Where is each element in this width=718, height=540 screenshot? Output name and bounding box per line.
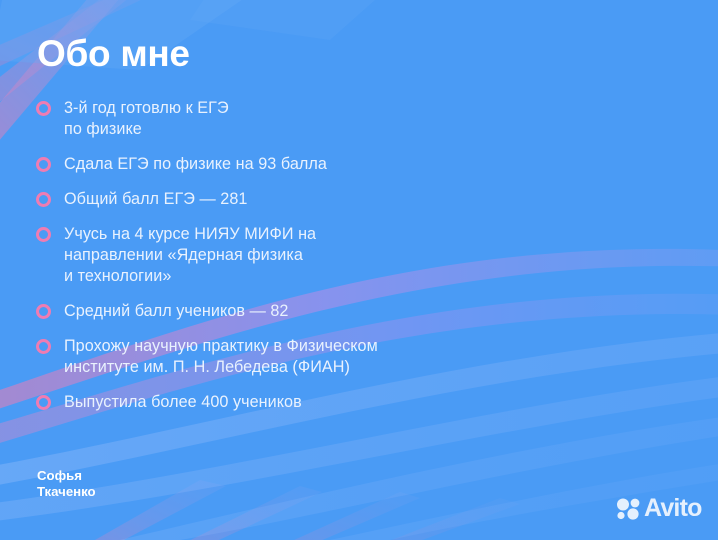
list-item-text: Сдала ЕГЭ по физике на 93 балла (64, 154, 566, 175)
list-item-text: Выпустила более 400 учеников (64, 392, 566, 413)
list-item-text: Средний балл учеников — 82 (64, 301, 566, 322)
list-item-text: Общий балл ЕГЭ — 281 (64, 189, 566, 210)
avito-dots-icon (616, 497, 641, 521)
list-item: Выпустила более 400 учеников (36, 392, 566, 413)
author-signature: Софья Ткаченко (37, 468, 96, 500)
slide-content: Обо мне 3-й год готовлю к ЕГЭ по физике … (0, 0, 718, 540)
list-item: Средний балл учеников — 82 (36, 301, 566, 322)
bullet-ring-icon (36, 395, 51, 410)
bullet-ring-icon (36, 304, 51, 319)
bullet-ring-icon (36, 192, 51, 207)
list-item: Прохожу научную практику в Физическом ин… (36, 336, 566, 378)
bullet-ring-icon (36, 227, 51, 242)
list-item-text: Прохожу научную практику в Физическом ин… (64, 336, 566, 378)
list-item: Общий балл ЕГЭ — 281 (36, 189, 566, 210)
bullet-ring-icon (36, 339, 51, 354)
bullet-ring-icon (36, 157, 51, 172)
list-item-text: Учусь на 4 курсе НИЯУ МИФИ на направлени… (64, 224, 566, 287)
slide-canvas: Обо мне 3-й год готовлю к ЕГЭ по физике … (0, 0, 718, 540)
about-bullet-list: 3-й год готовлю к ЕГЭ по физике Сдала ЕГ… (36, 98, 566, 413)
list-item-text: 3-й год готовлю к ЕГЭ по физике (64, 98, 566, 140)
avito-wordmark: Avito (644, 496, 702, 521)
list-item: Учусь на 4 курсе НИЯУ МИФИ на направлени… (36, 224, 566, 287)
list-item: 3-й год готовлю к ЕГЭ по физике (36, 98, 566, 140)
bullet-ring-icon (36, 101, 51, 116)
avito-watermark: Avito (616, 496, 702, 521)
list-item: Сдала ЕГЭ по физике на 93 балла (36, 154, 566, 175)
page-title: Обо мне (37, 34, 190, 75)
